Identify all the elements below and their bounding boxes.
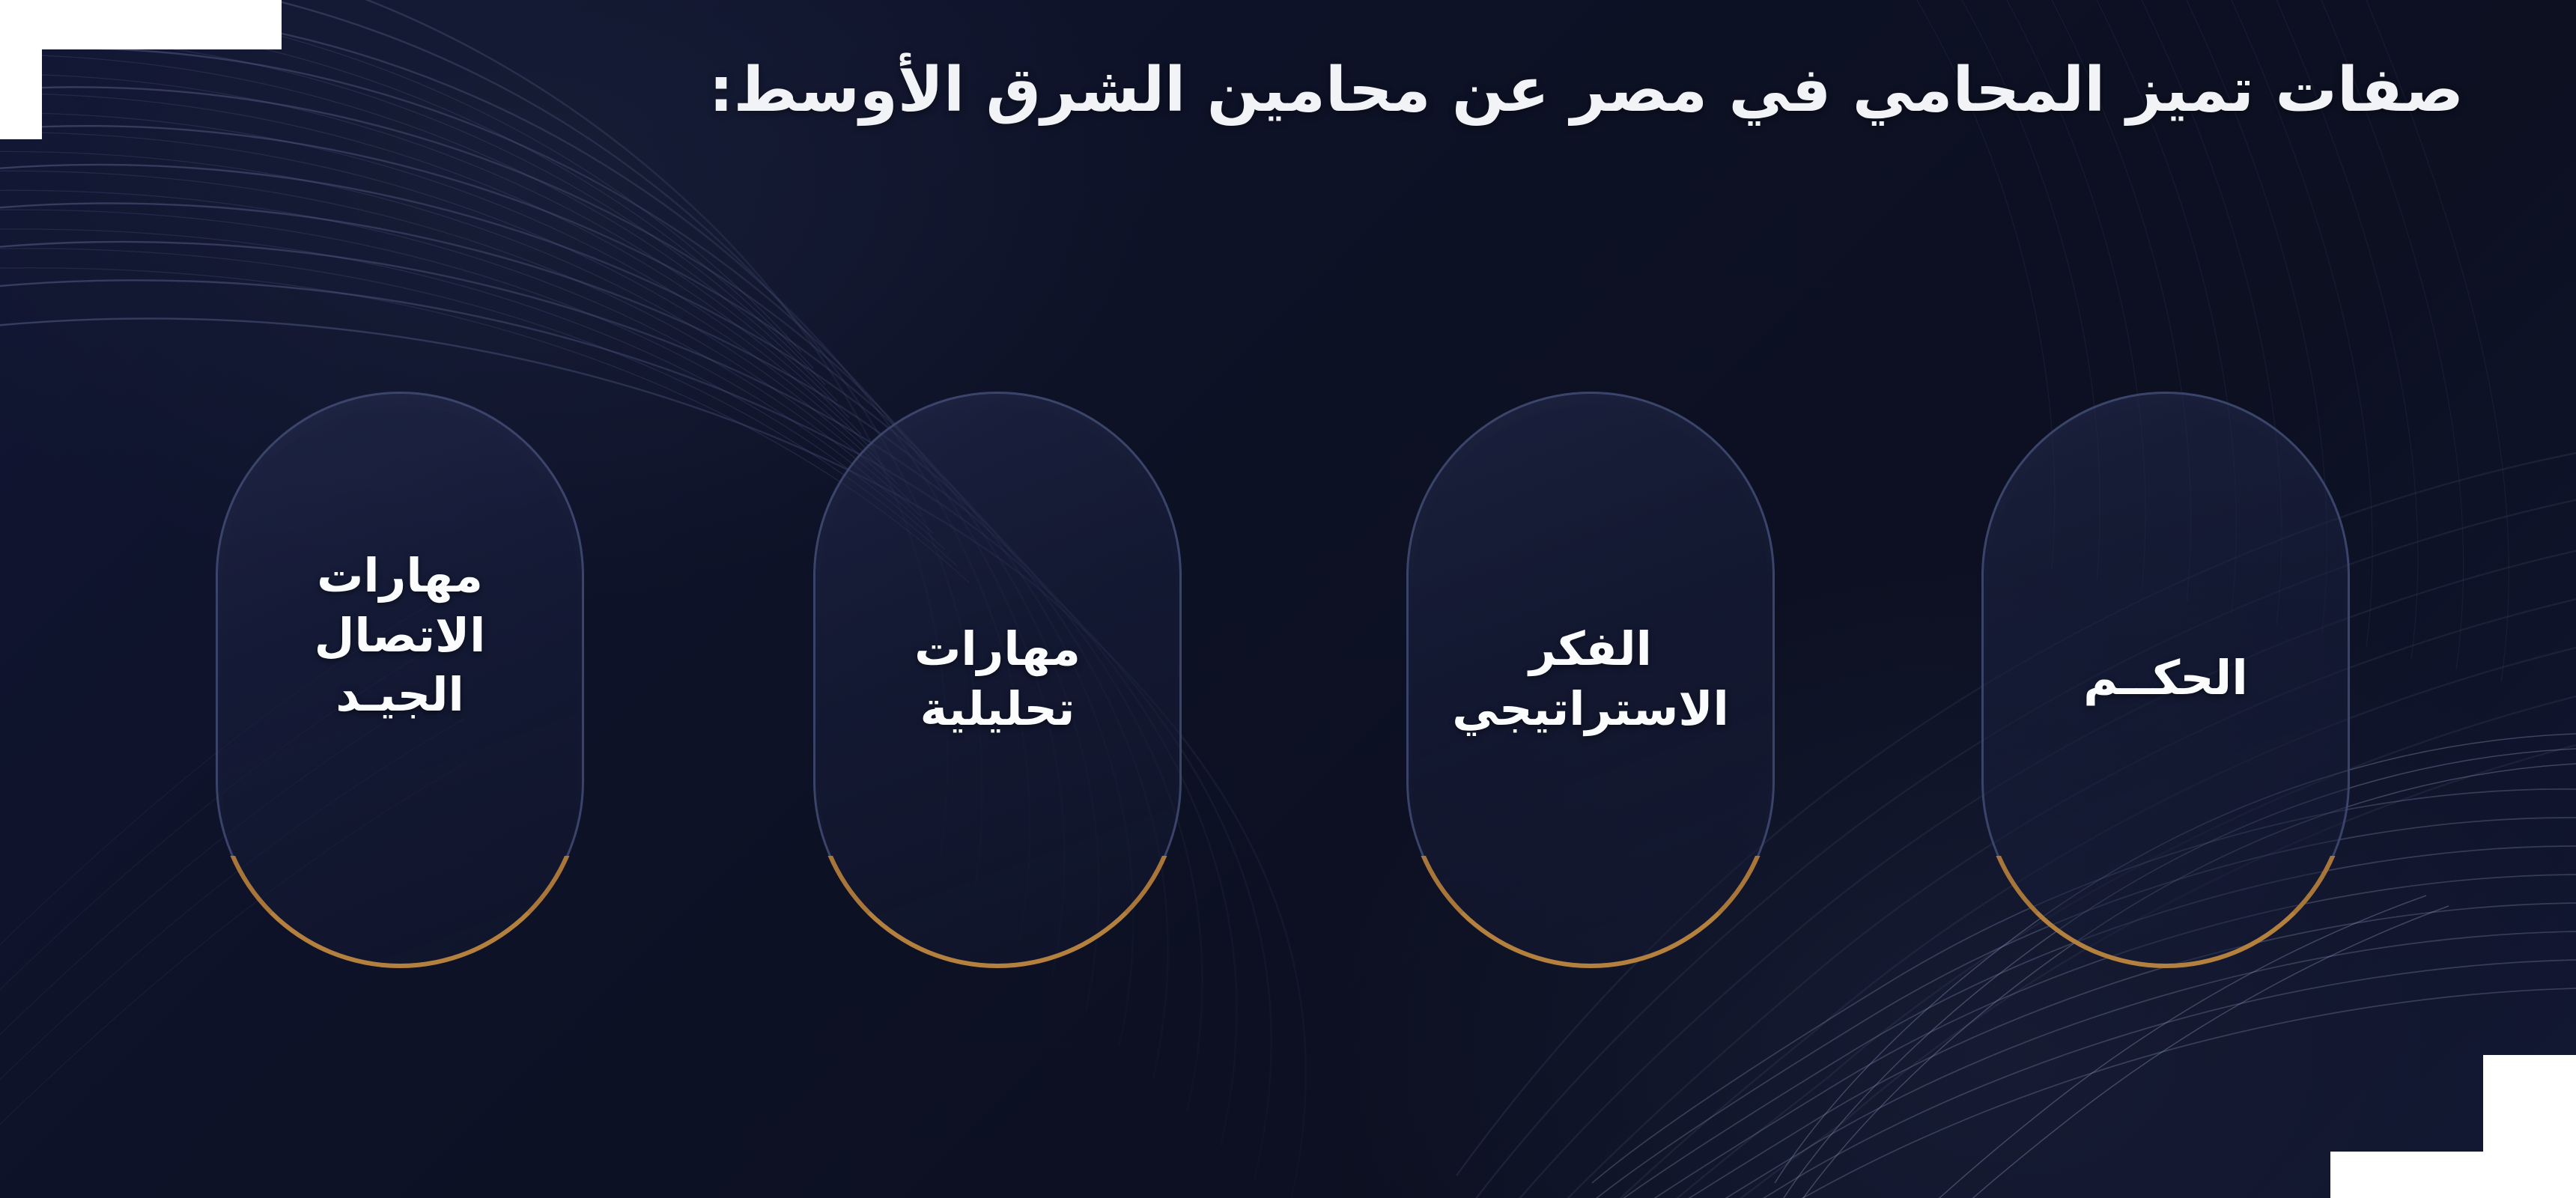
pill-card-analytical-skills[interactable]: مهارات تحليلية	[813, 392, 1182, 966]
corner-notch-top-left-column	[0, 0, 42, 139]
slide-canvas: صفات تميز المحامي في مصر عن محامين الشرق…	[0, 0, 2576, 1198]
corner-notch-top-left-bar	[0, 0, 282, 49]
pill-card-wisdom[interactable]: الحكــم	[1981, 392, 2350, 966]
slide-title: صفات تميز المحامي في مصر عن محامين الشرق…	[709, 58, 2464, 123]
pill-card-communication-skills[interactable]: مهارات الاتصال الجيـد	[216, 392, 584, 966]
gold-arc-accent	[216, 744, 584, 968]
pill-label-line: الفكر	[1452, 619, 1729, 678]
pill-label-line: الاستراتيجي	[1452, 679, 1729, 738]
pill-label: مهارات الاتصال الجيـد	[295, 546, 505, 724]
pill-label-line: الجيـد	[315, 665, 486, 724]
pill-card-strategic-thinking[interactable]: الفكر الاستراتيجي	[1406, 392, 1775, 966]
pill-label-line: الحكــم	[2083, 648, 2248, 709]
pill-label-line: تحليلية	[914, 679, 1081, 738]
pill-label-line: الاتصال	[315, 606, 486, 665]
pill-row: مهارات الاتصال الجيـد مهارات تحليلية الف…	[0, 392, 2576, 983]
pill-label: الحكــم	[2064, 648, 2267, 709]
corner-notch-bottom-right-bar	[2330, 1152, 2576, 1198]
gold-arc-accent	[1406, 744, 1775, 968]
gold-arc-accent	[1981, 744, 2350, 968]
pill-label-line: مهارات	[914, 619, 1081, 678]
gold-arc-accent	[813, 744, 1182, 968]
pill-label: الفكر الاستراتيجي	[1433, 619, 1749, 738]
pill-label-line: مهارات	[315, 546, 486, 605]
pill-label: مهارات تحليلية	[895, 619, 1100, 738]
